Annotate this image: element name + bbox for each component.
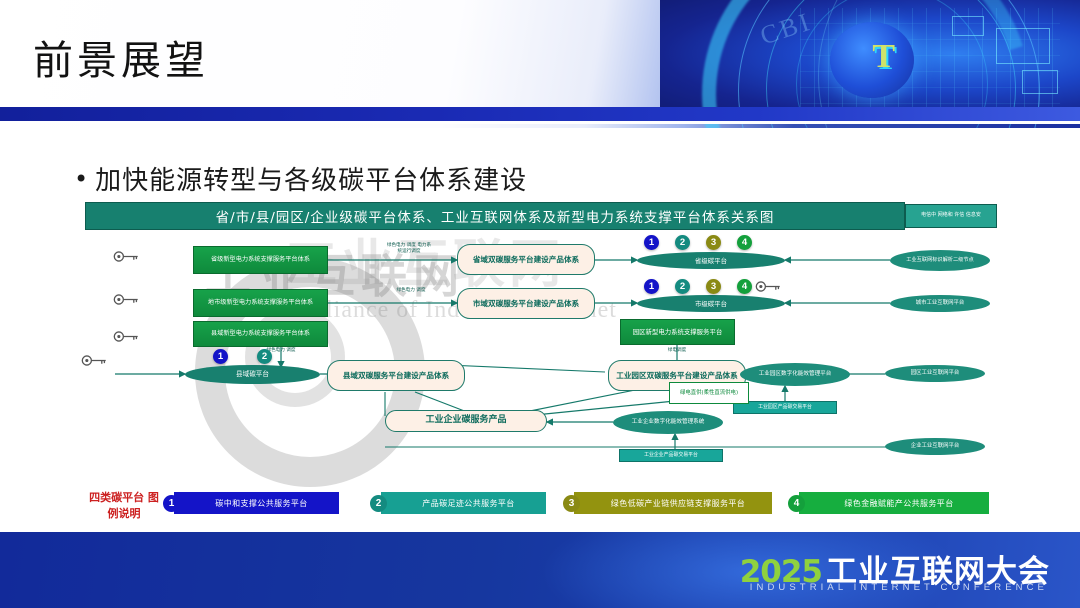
edge-label-park: 绿电调度 bbox=[653, 348, 701, 354]
relationship-diagram: 工业互联网 工业互联网 Alliance of Industrial Inter… bbox=[85, 202, 990, 532]
bullet-point: •加快能源转型与各级碳平台体系建设 bbox=[74, 160, 527, 197]
badge-1-county[interactable]: 1 bbox=[213, 349, 228, 364]
badge-2-city[interactable]: 2 bbox=[675, 279, 690, 294]
node-iiot-node[interactable]: 工业互联网标识解析二级节点 bbox=[890, 250, 990, 271]
badge-4-prov[interactable]: 4 bbox=[737, 235, 752, 250]
key-icon bbox=[81, 354, 107, 367]
badge-1-city[interactable]: 1 bbox=[644, 279, 659, 294]
bullet-text: 加快能源转型与各级碳平台体系建设 bbox=[95, 166, 527, 196]
legend-item-1[interactable]: 1 碳中和支撑公共服务平台 bbox=[163, 492, 339, 514]
node-park-energy[interactable]: 工业园区数字化能效管理平台 bbox=[740, 363, 850, 386]
edge-label-prov: 绿色电力 调度 电力系统运行调度 bbox=[385, 243, 433, 255]
header-chip-icon bbox=[952, 16, 984, 36]
header-divider bbox=[0, 121, 1080, 124]
node-green-power[interactable]: 绿电直供(柔性直流供电) bbox=[669, 382, 749, 404]
badge-4-city[interactable]: 4 bbox=[737, 279, 752, 294]
key-icon bbox=[113, 330, 139, 343]
edge-label-city: 绿色电力 调度 bbox=[391, 288, 431, 294]
slide-header: CBI T 前景展望 bbox=[0, 0, 1080, 128]
badge-3-prov[interactable]: 3 bbox=[706, 235, 721, 250]
diagram-legend: 四类碳平台 图例说明 1 碳中和支撑公共服务平台 2 产品碳足迹公共服务平台 3… bbox=[85, 488, 990, 524]
legend-item-3[interactable]: 3 绿色低碳产业链供应链支撑服务平台 bbox=[563, 492, 772, 514]
node-ent-trade[interactable]: 工业企业产品碳交易平台 bbox=[619, 449, 723, 462]
key-icon bbox=[113, 250, 139, 263]
node-prov-power[interactable]: 省级新型电力系统支撑服务平台体系 bbox=[193, 246, 328, 274]
node-city-platform[interactable]: 市级碳平台 bbox=[637, 295, 785, 312]
page-title: 前景展望 bbox=[33, 28, 209, 86]
badge-2-prov[interactable]: 2 bbox=[675, 235, 690, 250]
legend-label-3: 绿色低碳产业链供应链支撑服务平台 bbox=[574, 492, 772, 514]
legend-item-4[interactable]: 4 绿色金融赋能产公共服务平台 bbox=[788, 492, 989, 514]
legend-num-1: 1 bbox=[163, 495, 180, 512]
header-accent-bar bbox=[0, 107, 1080, 121]
header-chip-icon bbox=[996, 28, 1050, 64]
legend-label-4: 绿色金融赋能产公共服务平台 bbox=[799, 492, 989, 514]
header-logo-letter: T bbox=[872, 38, 894, 76]
legend-num-2: 2 bbox=[370, 495, 387, 512]
legend-num-4: 4 bbox=[788, 495, 805, 512]
node-park-iiot[interactable]: 园区工业互联网平台 bbox=[885, 365, 985, 382]
node-ent-carbon-product[interactable]: 工业企业碳服务产品 bbox=[385, 410, 547, 432]
header-chip-icon bbox=[1022, 70, 1058, 94]
legend-num-3: 3 bbox=[563, 495, 580, 512]
node-prov-carbon[interactable]: 省域双碳服务平台建设产品体系 bbox=[457, 244, 595, 275]
badge-2-county[interactable]: 2 bbox=[257, 349, 272, 364]
node-prov-platform[interactable]: 省级碳平台 bbox=[637, 252, 785, 269]
legend-label-1: 碳中和支撑公共服务平台 bbox=[174, 492, 339, 514]
key-icon bbox=[113, 293, 139, 306]
node-county-power[interactable]: 县域新型电力系统支撑服务平台体系 bbox=[193, 321, 328, 347]
conference-name-en: INDUSTRIAL INTERNET CONFERENCE bbox=[750, 582, 1048, 593]
badge-3-city[interactable]: 3 bbox=[706, 279, 721, 294]
node-ent-iiot[interactable]: 企业工业互联网平台 bbox=[885, 438, 985, 455]
legend-label-2: 产品碳足迹公共服务平台 bbox=[381, 492, 546, 514]
node-ent-energy[interactable]: 工业企业数字化能效管理系统 bbox=[613, 411, 723, 434]
node-park-power[interactable]: 园区新型电力系统支撑服务平台 bbox=[620, 319, 735, 345]
node-county-carbon[interactable]: 县域双碳服务平台建设产品体系 bbox=[327, 360, 465, 391]
bullet-dot-icon: • bbox=[74, 165, 89, 193]
legend-item-2[interactable]: 2 产品碳足迹公共服务平台 bbox=[370, 492, 546, 514]
node-city-iiot[interactable]: 城市工业互联网平台 bbox=[890, 295, 990, 312]
node-city-carbon[interactable]: 市域双碳服务平台建设产品体系 bbox=[457, 288, 595, 319]
node-city-power[interactable]: 地市级新型电力系统支撑服务平台体系 bbox=[193, 289, 328, 317]
slide-footer: 2025 工业互联网大会 INDUSTRIAL INTERNET CONFERE… bbox=[0, 532, 1080, 608]
node-county-platform[interactable]: 县域碳平台 bbox=[185, 365, 320, 384]
legend-title: 四类碳平台 图例说明 bbox=[85, 490, 163, 522]
badge-1-prov[interactable]: 1 bbox=[644, 235, 659, 250]
key-icon bbox=[755, 280, 781, 293]
